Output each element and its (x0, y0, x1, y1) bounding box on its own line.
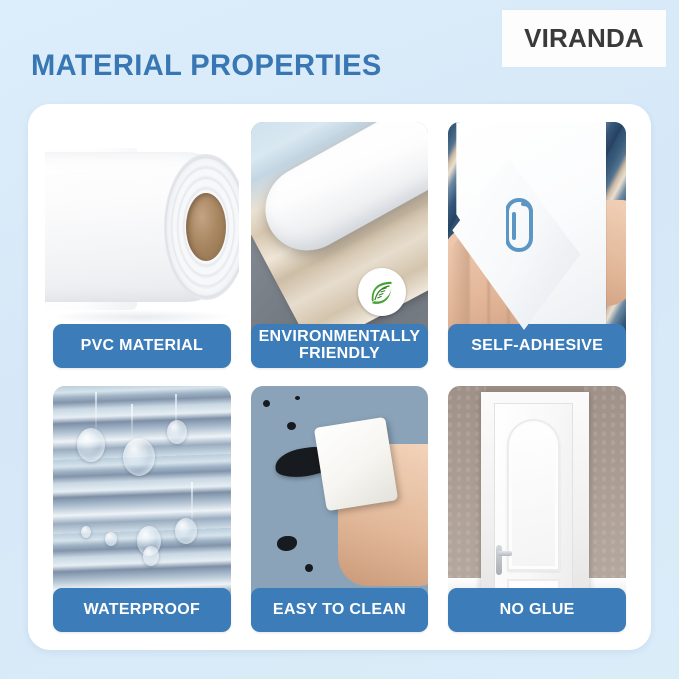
feature-label-environmentally-friendly: ENVIRONMENTALLY FRIENDLY (251, 324, 429, 368)
brand-logo-box: VIRANDA (502, 10, 666, 67)
feature-label-no-glue: NO GLUE (448, 588, 626, 632)
infographic-page: VIRANDA MATERIAL PROPERTIES PVC MATERIAL (0, 0, 679, 679)
feature-label-pvc-material: PVC MATERIAL (53, 324, 231, 368)
feature-card-easy-to-clean[interactable]: EASY TO CLEAN (243, 382, 437, 636)
feature-card-environmentally-friendly[interactable]: ENVIRONMENTALLY FRIENDLY (243, 118, 437, 372)
door-frame (481, 392, 589, 614)
feature-label-self-adhesive: SELF-ADHESIVE (448, 324, 626, 368)
door-handle-icon (496, 545, 502, 575)
feature-label-line-1: ENVIRONMENTALLY (259, 328, 421, 345)
feature-card-pvc-material[interactable]: PVC MATERIAL (45, 118, 239, 372)
self-adhesive-image (448, 122, 626, 350)
feature-card-no-glue[interactable]: NO GLUE (440, 382, 634, 636)
no-glue-door-image (448, 386, 626, 614)
paperclip-icon (506, 198, 540, 256)
feature-card-self-adhesive[interactable]: SELF-ADHESIVE (440, 118, 634, 372)
feature-card-waterproof[interactable]: WATERPROOF (45, 382, 239, 636)
eco-badge (358, 268, 406, 316)
door-leaf (494, 403, 573, 614)
brand-name: VIRANDA (524, 23, 644, 54)
page-title: MATERIAL PROPERTIES (31, 49, 382, 83)
feature-label-line-2: FRIENDLY (299, 345, 380, 362)
roll-core (186, 193, 226, 261)
easy-to-clean-image (251, 386, 429, 614)
leaf-icon (367, 277, 397, 307)
paperclip-badge (506, 198, 540, 261)
feature-label-easy-to-clean: EASY TO CLEAN (251, 588, 429, 632)
feature-panel: PVC MATERIAL (28, 104, 651, 650)
eco-roll-image (251, 122, 429, 350)
feature-label-waterproof: WATERPROOF (53, 588, 231, 632)
pvc-roll-image (45, 122, 239, 350)
waterproof-image (53, 386, 231, 614)
feature-grid: PVC MATERIAL (45, 118, 634, 636)
